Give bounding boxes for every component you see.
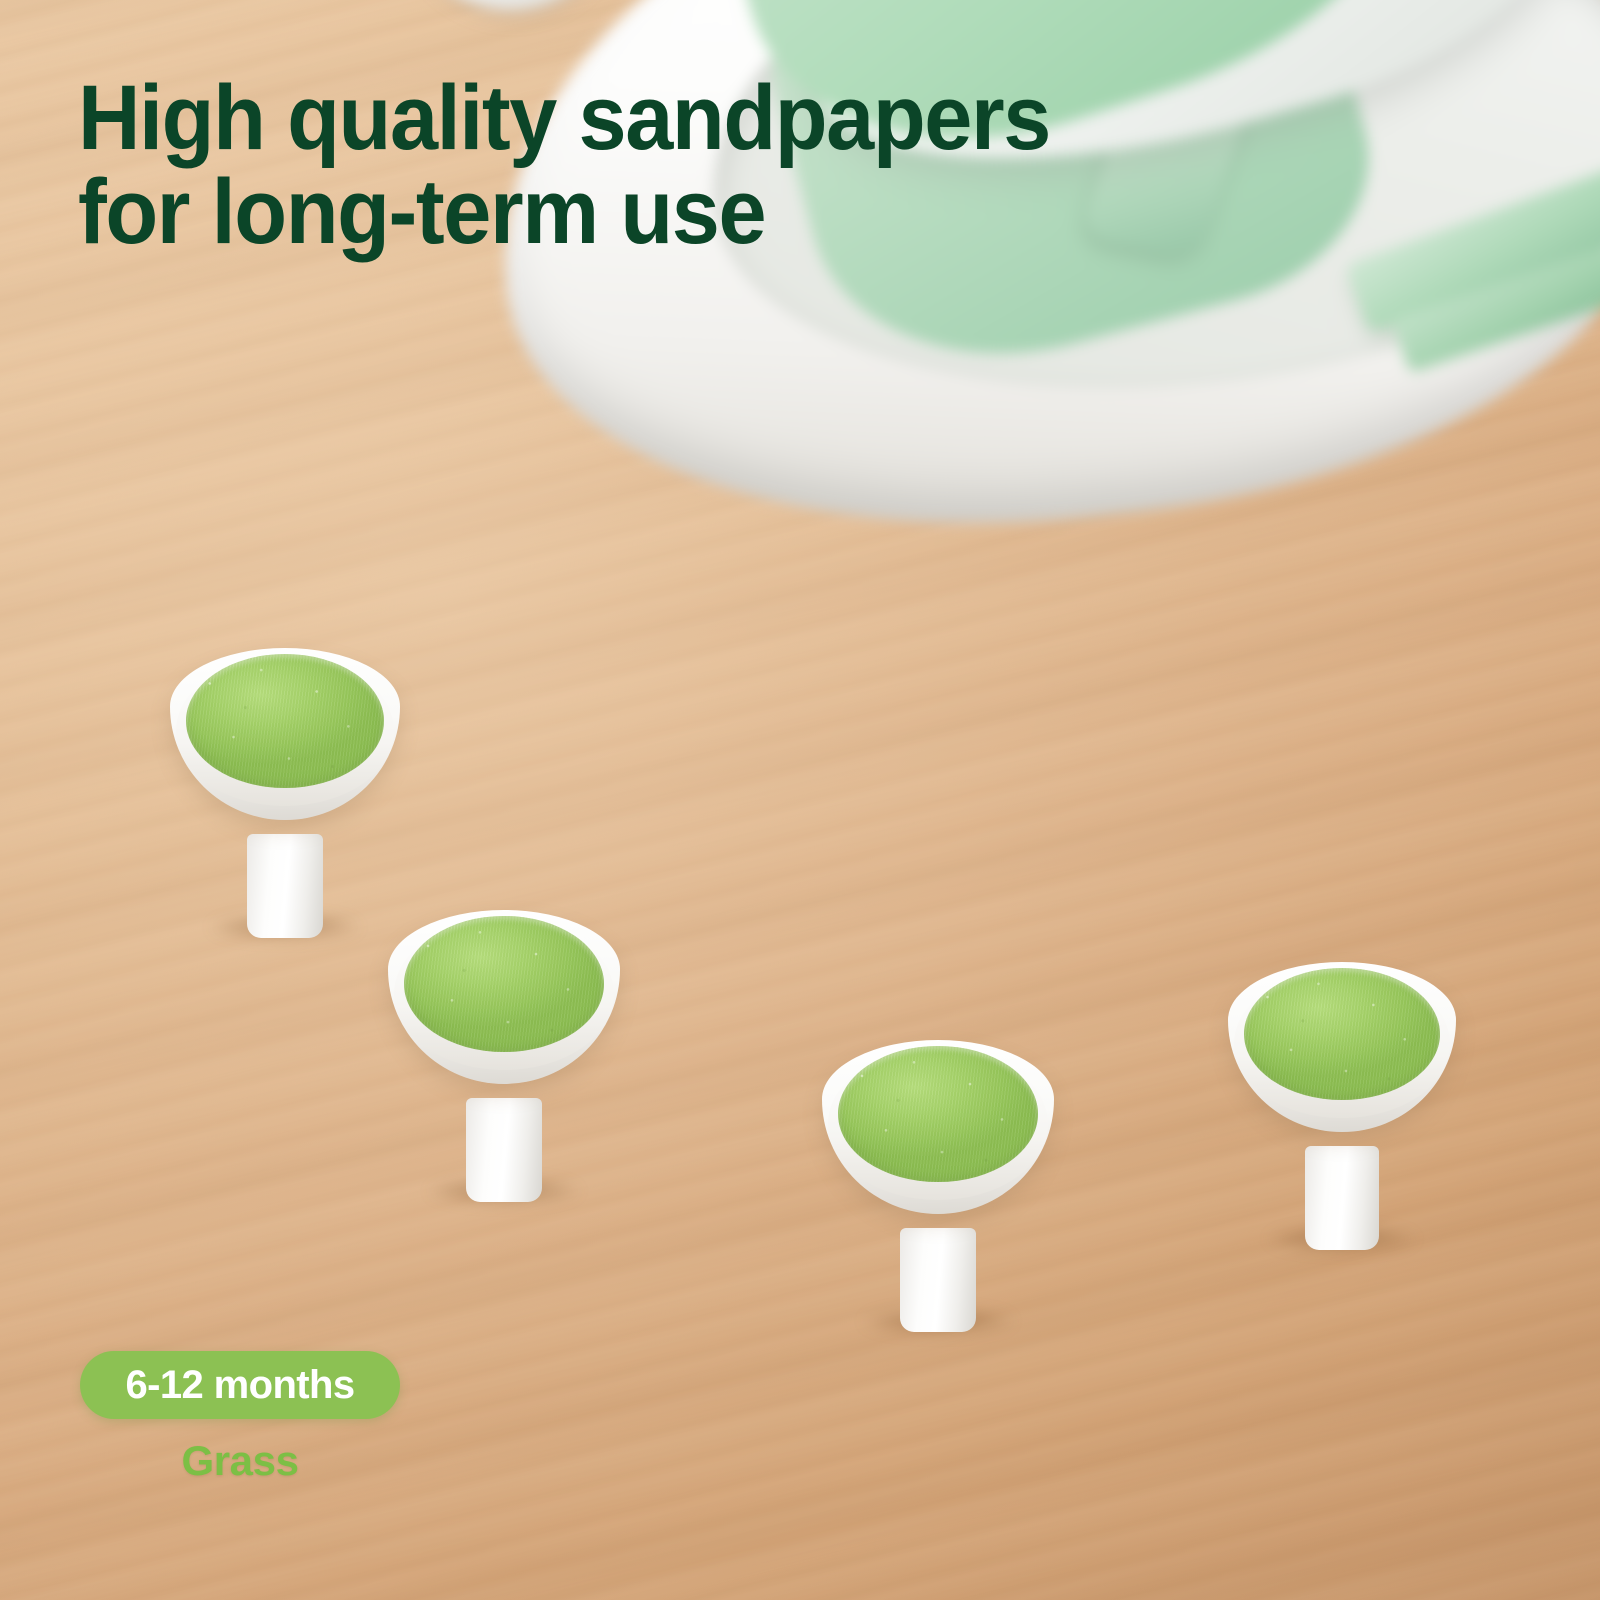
sandpaper-head-2 bbox=[388, 910, 620, 1202]
head-sandpaper-pad bbox=[838, 1046, 1038, 1182]
grit-name-label: Grass bbox=[80, 1437, 400, 1485]
head-stem bbox=[466, 1098, 542, 1202]
head-sandpaper-pad bbox=[404, 916, 604, 1052]
head-sandpaper-pad bbox=[1244, 968, 1440, 1100]
head-sandpaper-pad bbox=[186, 654, 384, 788]
head-stem bbox=[900, 1228, 976, 1332]
sandpaper-head-1 bbox=[170, 648, 400, 938]
age-range-label: 6-12 months bbox=[125, 1363, 354, 1408]
sandpaper-head-4 bbox=[1228, 962, 1456, 1250]
page-title: High quality sandpapers for long-term us… bbox=[78, 72, 1187, 260]
age-range-badge: 6-12 months bbox=[80, 1351, 400, 1419]
grey-sanding-disc bbox=[382, 0, 639, 32]
head-stem bbox=[1305, 1146, 1379, 1250]
sandpaper-head-3 bbox=[822, 1040, 1054, 1332]
product-image-canvas: High quality sandpapers for long-term us… bbox=[0, 0, 1600, 1600]
head-stem bbox=[247, 834, 323, 938]
